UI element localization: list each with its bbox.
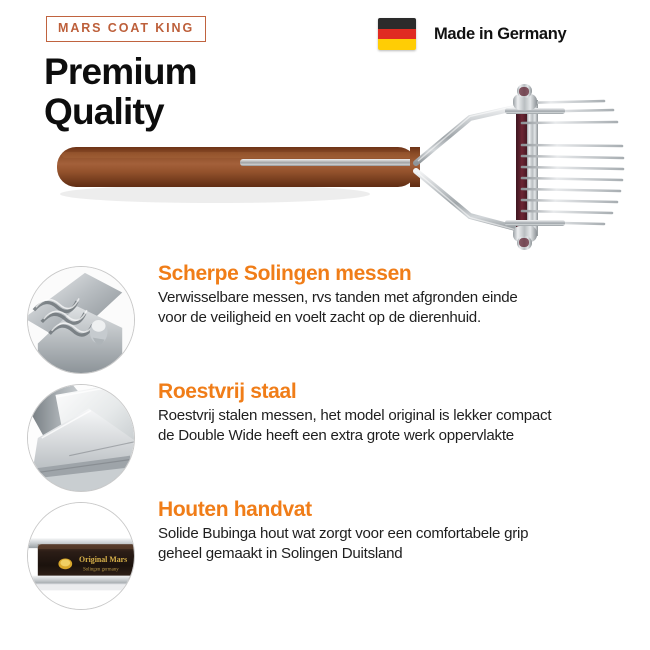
wooden-handle-closeup-icon: Original Mars Solingen germany (27, 502, 135, 610)
svg-text:Solingen germany: Solingen germany (83, 568, 119, 573)
feature-item: Scherpe Solingen messen Verwisselbare me… (0, 262, 650, 380)
blade-head (505, 84, 623, 250)
brand-badge: MARS COAT KING (46, 16, 206, 42)
feature-body: Roestvrij stalen messen, het model origi… (158, 406, 638, 448)
feature-heading: Roestvrij staal (158, 380, 638, 404)
feature-body: Verwisselbare messen, rvs tanden met afg… (158, 288, 638, 330)
feature-text: Roestvrij staal Roestvrij stalen messen,… (158, 380, 638, 447)
made-in-germany-label: Made in Germany (434, 25, 566, 44)
feature-item: Roestvrij staal Roestvrij stalen messen,… (0, 380, 650, 498)
german-flag-icon (378, 18, 416, 50)
made-in-germany-group: Made in Germany (378, 18, 566, 50)
header: MARS COAT KING Premium Quality Made in G… (0, 0, 650, 252)
feature-body-line-2: voor de veiligheid en voelt zacht op de … (158, 308, 638, 329)
feature-item: Original Mars Solingen germany Houten ha… (0, 498, 650, 616)
feature-heading: Houten handvat (158, 498, 638, 522)
coat-king-rake-icon (0, 78, 650, 258)
bubinga-wood-handle (57, 147, 420, 187)
feature-body-line-2: geheel gemaakt in Solingen Duitsland (158, 544, 638, 565)
feature-body-line-1: Roestvrij stalen messen, het model origi… (158, 406, 638, 427)
feature-body: Solide Bubinga hout wat zorgt voor een c… (158, 524, 638, 566)
product-infographic: { "brand": { "badge_label": "MARS COAT K… (0, 0, 650, 650)
feature-text: Scherpe Solingen messen Verwisselbare me… (158, 262, 638, 329)
feature-body-line-1: Solide Bubinga hout wat zorgt voor een c… (158, 524, 638, 545)
feature-text: Houten handvat Solide Bubinga hout wat z… (158, 498, 638, 565)
blades-closeup-icon (27, 266, 135, 374)
feature-heading: Scherpe Solingen messen (158, 262, 638, 286)
features-list: Scherpe Solingen messen Verwisselbare me… (0, 262, 650, 616)
feature-body-line-2: de Double Wide heeft een extra grote wer… (158, 426, 638, 447)
steel-yoke (416, 106, 523, 230)
stainless-steel-closeup-icon (27, 384, 135, 492)
svg-text:Original Mars: Original Mars (79, 555, 127, 564)
feature-body-line-1: Verwisselbare messen, rvs tanden met afg… (158, 288, 638, 309)
